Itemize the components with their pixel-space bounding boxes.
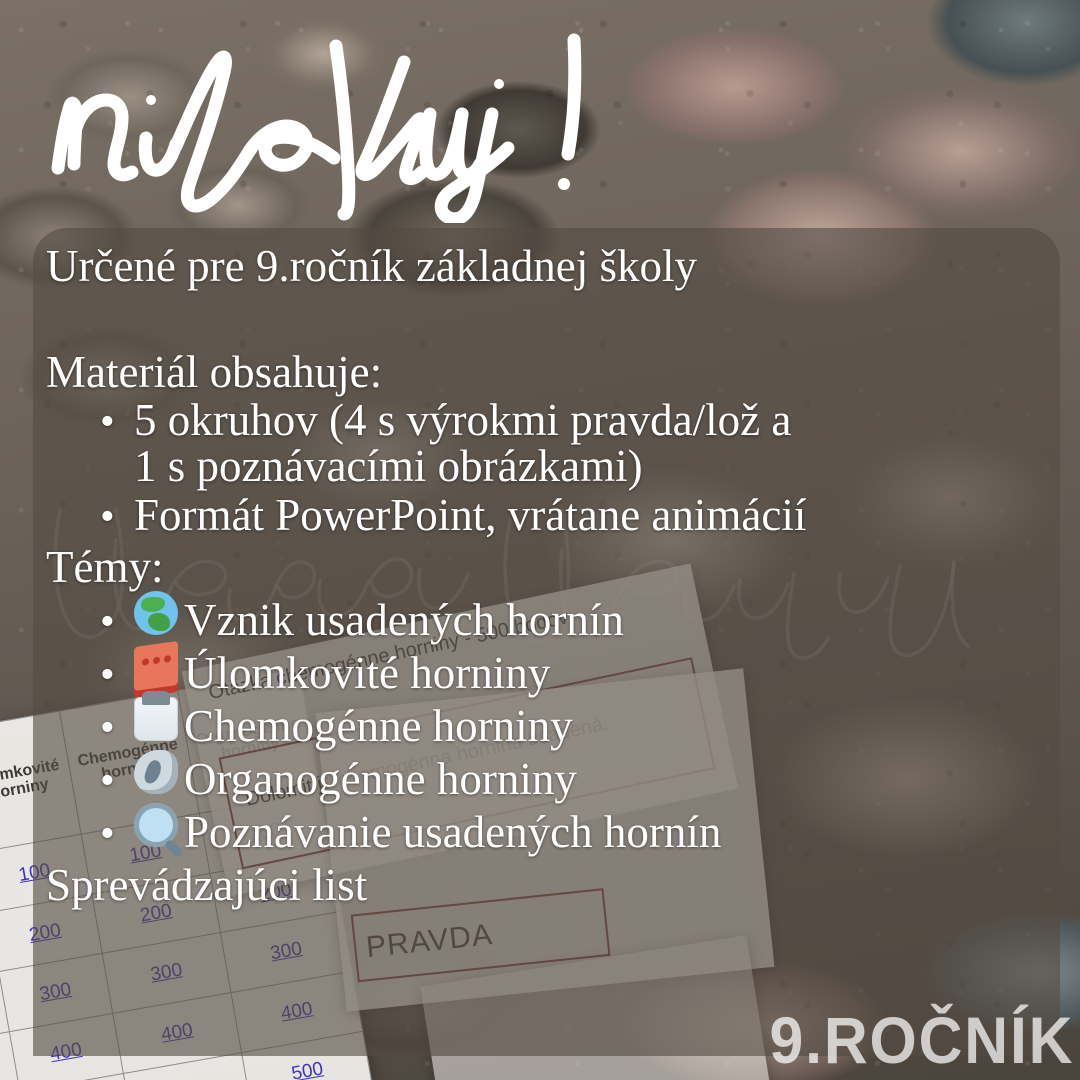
intro-line: Určené pre 9.ročník základnej školy <box>46 232 1080 290</box>
material-item-line1: Formát PowerPoint, vrátane animácií <box>134 491 806 539</box>
content-text-block: Určené pre 9.ročník základnej školy Mate… <box>46 232 1080 909</box>
salt-shaker-icon <box>134 697 178 741</box>
list-item: • Chemogénne horniny <box>46 697 1080 750</box>
bullet-icon: • <box>100 401 134 443</box>
brick-icon <box>134 641 178 691</box>
list-item: • 5 okruhov (4 s výrokmi pravda/lož a <box>46 396 1080 444</box>
topic-label: Organogénne horniny <box>184 755 577 803</box>
bullet-icon: • <box>100 654 134 696</box>
poster-canvas: Vznik usadených hornín Úlomkovité hornin… <box>0 0 1080 1080</box>
bullet-icon: • <box>100 760 134 802</box>
bullet-icon: • <box>100 496 134 538</box>
topic-label: Chemogénne horniny <box>184 702 573 750</box>
spacer <box>46 290 1080 344</box>
bullet-icon: • <box>100 813 134 855</box>
list-item: • Formát PowerPoint, vrátane animácií <box>46 491 1080 539</box>
material-item-line1: 5 okruhov (4 s výrokmi pravda/lož a <box>134 396 791 444</box>
topic-label: Vznik usadených hornín <box>184 596 624 644</box>
list-item: • Vznik usadených hornín <box>46 591 1080 644</box>
material-item-line2: 1 s poznávacími obrázkami) <box>46 442 1080 490</box>
footer-line: Sprevádzajúci list <box>46 857 1080 909</box>
globe-icon <box>134 591 178 635</box>
bullet-icon: • <box>100 707 134 749</box>
shell-icon <box>134 750 178 794</box>
list-item: • Organogénne horniny <box>46 750 1080 803</box>
riskuj-script-title <box>18 18 658 223</box>
list-item: • Poznávanie usadených hornín <box>46 803 1080 856</box>
topics-heading: Témy: <box>46 539 1080 591</box>
topic-label: Poznávanie usadených hornín <box>184 808 721 856</box>
materials-heading: Materiál obsahuje: <box>46 344 1080 396</box>
topic-label: Úlomkovité horniny <box>184 649 550 697</box>
magnifier-icon <box>134 803 178 847</box>
bullet-icon: • <box>100 601 134 643</box>
grade-badge: 9.ROČNÍK <box>769 1002 1074 1078</box>
list-item: • Úlomkovité horniny <box>46 644 1080 697</box>
